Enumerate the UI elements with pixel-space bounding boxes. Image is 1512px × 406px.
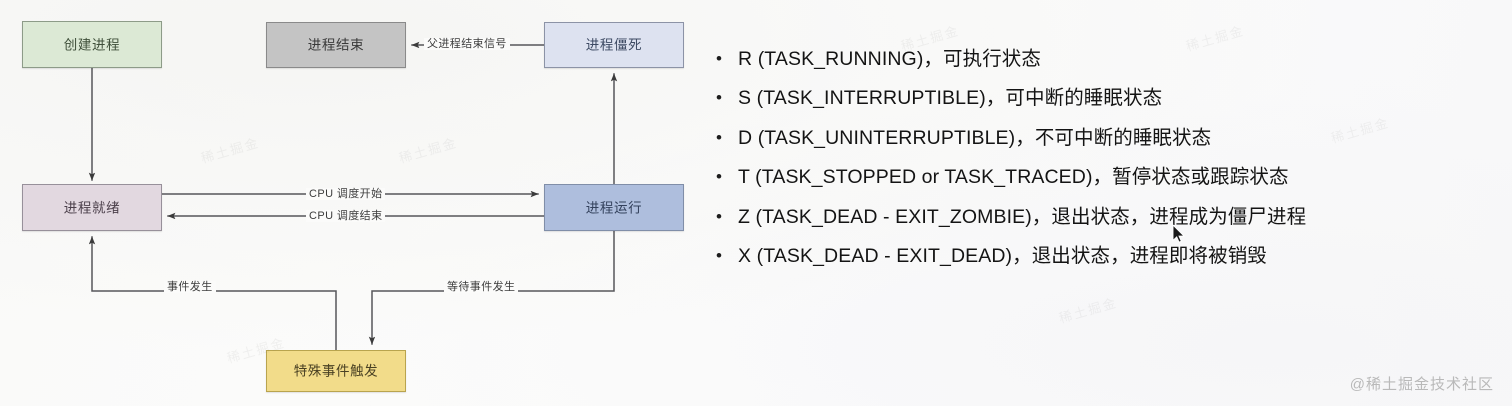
- bullet-icon: •: [716, 129, 738, 146]
- list-item: • Z (TASK_DEAD - EXIT_ZOMBIE)，退出状态，进程成为僵…: [716, 206, 1506, 228]
- node-process-running[interactable]: 进程运行: [544, 184, 684, 231]
- process-state-diagram: 创建进程 进程结束 进程僵死 进程就绪 进程运行 特殊事件触发 父进程结束信号 …: [0, 0, 700, 406]
- list-item-text: S (TASK_INTERRUPTIBLE)，可中断的睡眠状态: [738, 87, 1162, 109]
- list-item: • X (TASK_DEAD - EXIT_DEAD)，退出状态，进程即将被销毁: [716, 245, 1506, 267]
- edge-label-event-occurred: 事件发生: [164, 281, 216, 293]
- list-item-text: R (TASK_RUNNING)，可执行状态: [738, 48, 1041, 70]
- list-item-text: D (TASK_UNINTERRUPTIBLE)，不可中断的睡眠状态: [738, 127, 1211, 149]
- node-create-process[interactable]: 创建进程: [22, 21, 162, 68]
- brand-watermark: @稀土掘金技术社区: [1350, 373, 1494, 394]
- list-item-text: T (TASK_STOPPED or TASK_TRACED)，暂停状态或跟踪状…: [738, 166, 1289, 188]
- bullet-icon: •: [716, 89, 738, 106]
- list-item: • T (TASK_STOPPED or TASK_TRACED)，暂停状态或跟…: [716, 166, 1506, 188]
- node-process-end[interactable]: 进程结束: [266, 22, 406, 68]
- bullet-icon: •: [716, 247, 738, 264]
- node-process-ready-label: 进程就绪: [64, 201, 120, 215]
- node-process-end-label: 进程结束: [308, 39, 364, 53]
- node-process-zombie-label: 进程僵死: [586, 39, 642, 53]
- list-item-text: Z (TASK_DEAD - EXIT_ZOMBIE)，退出状态，进程成为僵尸进…: [738, 206, 1306, 228]
- node-process-zombie[interactable]: 进程僵死: [544, 22, 684, 68]
- edge-label-schedule-end: CPU 调度结束: [306, 210, 385, 222]
- list-item: • D (TASK_UNINTERRUPTIBLE)，不可中断的睡眠状态: [716, 127, 1506, 149]
- list-item: • S (TASK_INTERRUPTIBLE)，可中断的睡眠状态: [716, 87, 1506, 109]
- bullet-icon: •: [716, 50, 738, 67]
- edge-label-parent-signal: 父进程结束信号: [424, 38, 510, 50]
- edge-label-schedule-start: CPU 调度开始: [306, 188, 385, 200]
- screenshot-root: 创建进程 进程结束 进程僵死 进程就绪 进程运行 特殊事件触发 父进程结束信号 …: [0, 0, 1512, 406]
- node-special-event-trigger[interactable]: 特殊事件触发: [266, 350, 406, 392]
- task-state-list: • R (TASK_RUNNING)，可执行状态 • S (TASK_INTER…: [716, 48, 1506, 285]
- node-create-process-label: 创建进程: [64, 38, 120, 52]
- node-special-event-trigger-label: 特殊事件触发: [294, 365, 379, 379]
- list-item: • R (TASK_RUNNING)，可执行状态: [716, 48, 1506, 70]
- node-process-ready[interactable]: 进程就绪: [22, 184, 162, 231]
- node-process-running-label: 进程运行: [586, 201, 642, 215]
- bullet-icon: •: [716, 168, 738, 185]
- bullet-icon: •: [716, 208, 738, 225]
- ghost-watermark: 稀土掘金: [1057, 292, 1120, 327]
- list-item-text: X (TASK_DEAD - EXIT_DEAD)，退出状态，进程即将被销毁: [738, 245, 1267, 267]
- edge-label-waiting-event: 等待事件发生: [444, 281, 518, 293]
